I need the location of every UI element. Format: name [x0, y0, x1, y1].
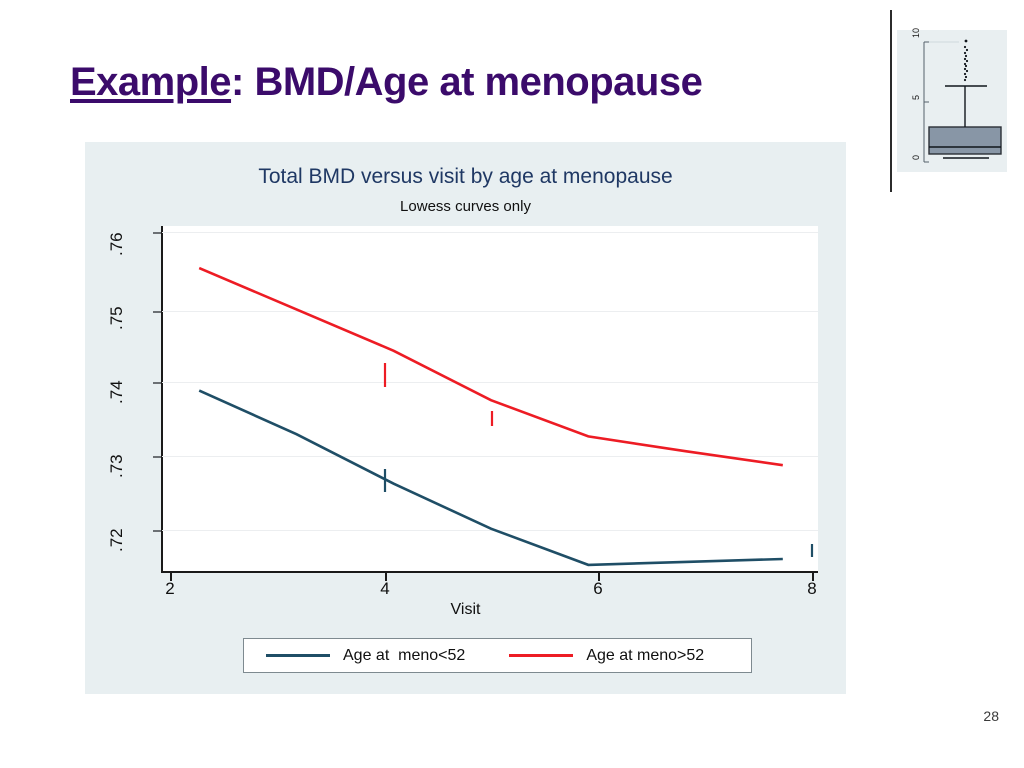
legend-label-meno-lt-52: Age at meno<52: [343, 647, 465, 665]
y-tick-72: [153, 530, 161, 532]
thumbnail-divider-line: [890, 10, 892, 192]
y-tick-75: [153, 311, 161, 313]
plot-area: [161, 226, 818, 573]
x-tick-label-2: 2: [165, 579, 174, 599]
y-tick-label-76: .76: [107, 232, 127, 256]
page-number: 28: [983, 708, 999, 724]
legend-entry-meno-lt-52: Age at meno<52: [266, 647, 465, 665]
page-title-rest: : BMD/Age at menopause: [231, 60, 702, 104]
chart-subtitle: Lowess curves only: [85, 198, 846, 215]
y-tick-label-73: .73: [107, 454, 127, 478]
series-curves: [161, 226, 818, 573]
y-tick-76: [153, 232, 161, 234]
thumbnail-boxplot-graphic: [897, 30, 1007, 172]
y-tick-label-74: .74: [107, 380, 127, 404]
y-tick-label-72: .72: [107, 528, 127, 552]
y-tick-label-75: .75: [107, 306, 127, 330]
chart-title: Total BMD versus visit by age at menopau…: [85, 165, 846, 189]
x-tick-label-6: 6: [593, 579, 602, 599]
legend-swatch-meno-gt-52: [509, 654, 573, 657]
legend-swatch-meno-lt-52: [266, 654, 330, 657]
graph-panel: Total BMD versus visit by age at menopau…: [85, 142, 846, 694]
chart-legend: Age at meno<52 Age at meno>52: [243, 638, 752, 673]
page-title-underlined-word: Example: [70, 60, 231, 104]
thumbnail-boxplot[interactable]: 10 5 0: [897, 30, 1007, 172]
y-tick-73: [153, 456, 161, 458]
x-tick-label-8: 8: [807, 579, 816, 599]
page-title: Example: BMD/Age at menopause: [70, 60, 870, 105]
series-line-meno-gt-52: [199, 268, 783, 465]
legend-label-meno-gt-52: Age at meno>52: [586, 647, 704, 665]
x-tick-label-4: 4: [380, 579, 389, 599]
legend-entry-meno-gt-52: Age at meno>52: [509, 647, 704, 665]
y-tick-74: [153, 382, 161, 384]
x-axis-title: Visit: [85, 601, 846, 619]
